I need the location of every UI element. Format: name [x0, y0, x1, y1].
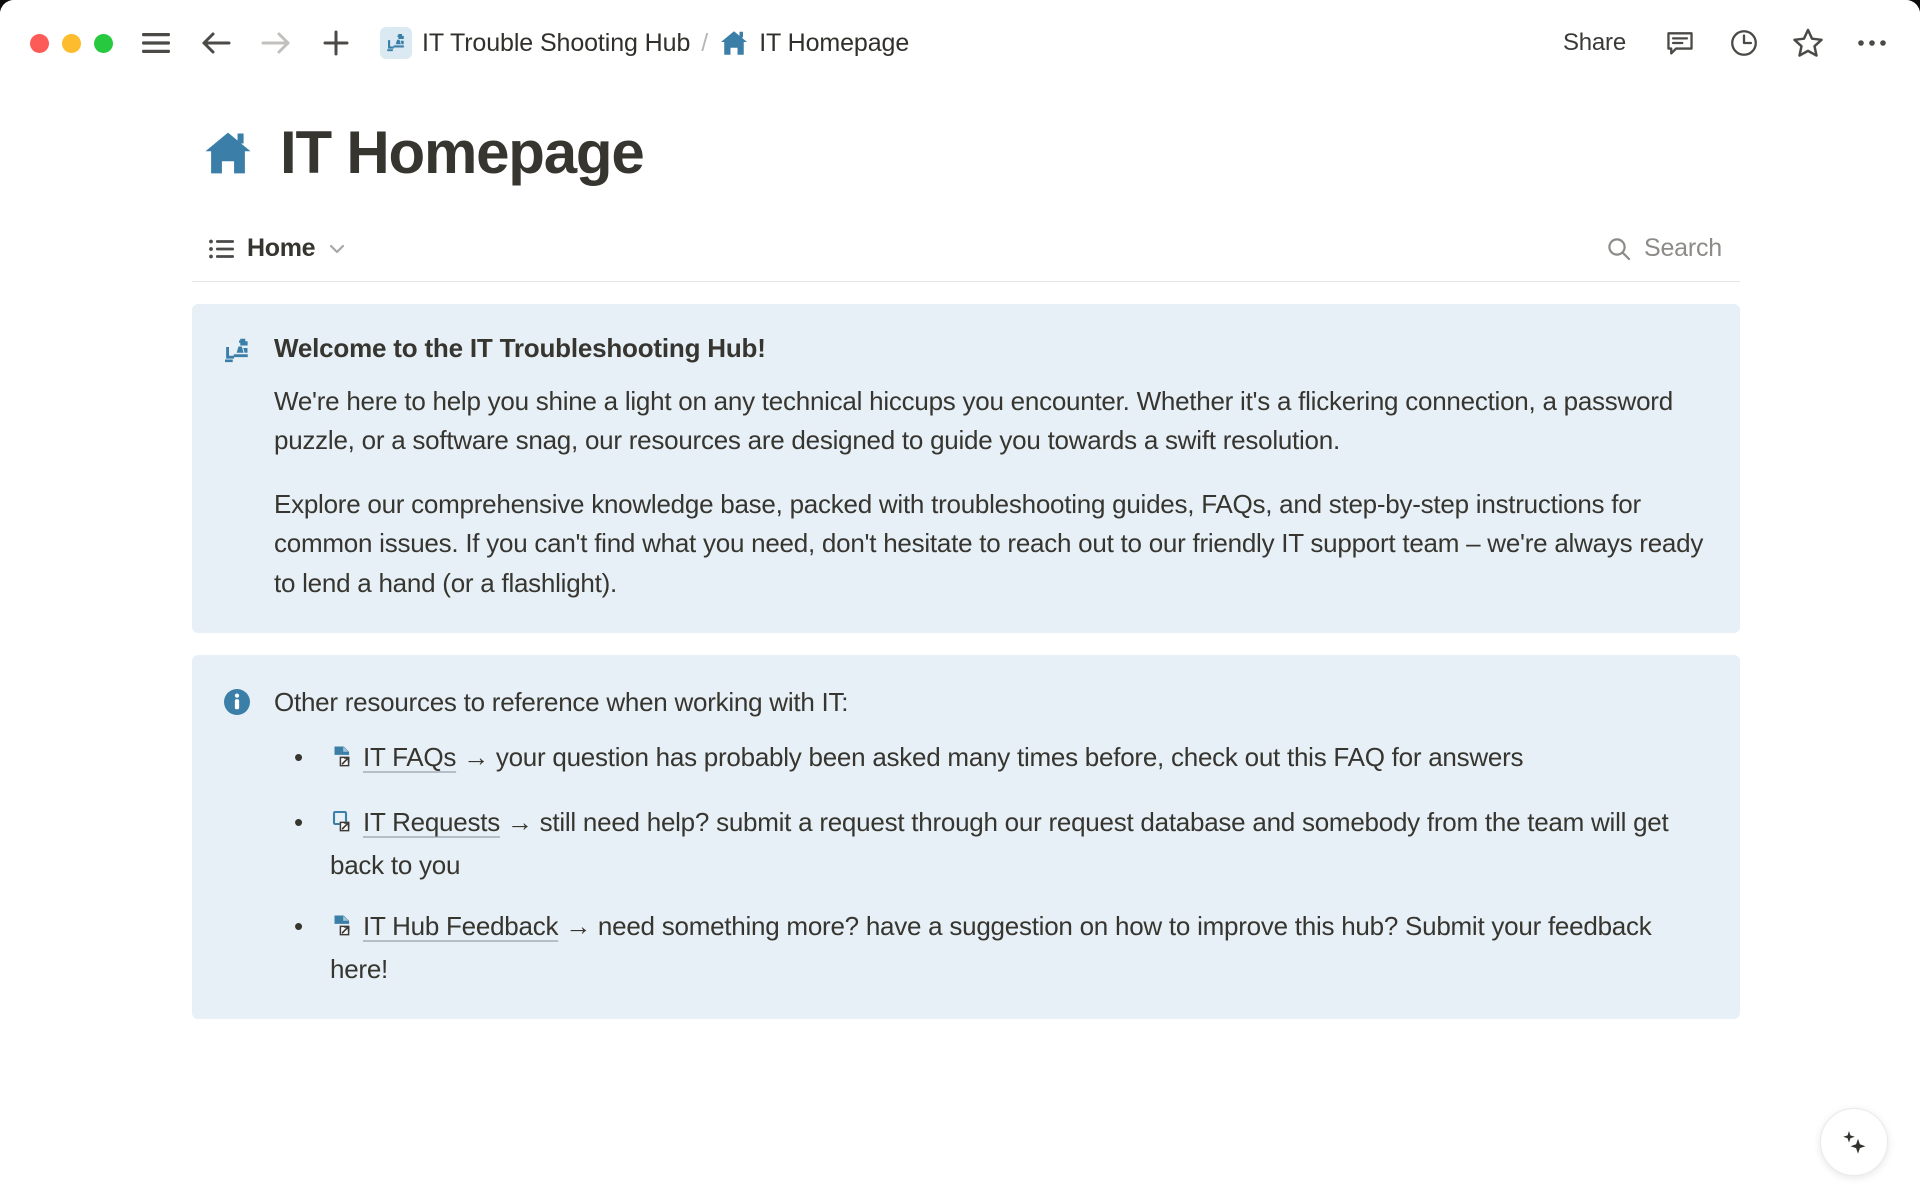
- more-options-icon[interactable]: [1852, 23, 1892, 63]
- star-favorite-icon[interactable]: [1788, 23, 1828, 63]
- welcome-paragraph-1: We're here to help you shine a light on …: [274, 382, 1706, 461]
- app-window: IT Trouble Shooting Hub / IT Homepage Sh…: [0, 0, 1920, 1200]
- ai-assistant-button[interactable]: [1820, 1108, 1888, 1176]
- database-link-icon: [330, 807, 356, 846]
- resources-list: • IT FAQs → your questi: [274, 738, 1706, 989]
- resources-callout: Other resources to reference when workin…: [192, 655, 1740, 1019]
- share-button[interactable]: Share: [1553, 24, 1636, 62]
- list-item-description: → still need help? submit a request thro…: [330, 807, 1669, 880]
- breadcrumb-item-current[interactable]: IT Homepage: [714, 25, 914, 61]
- welcome-callout-body: Welcome to the IT Troubleshooting Hub! W…: [274, 330, 1706, 603]
- house-icon[interactable]: [202, 127, 254, 179]
- forward-arrow-icon[interactable]: [257, 24, 295, 62]
- link-it-faqs[interactable]: IT FAQs: [363, 742, 456, 772]
- chevron-down-icon[interactable]: [326, 238, 348, 260]
- page-link-icon: [330, 742, 356, 781]
- close-window-button[interactable]: [30, 34, 49, 53]
- info-circle-icon: [222, 681, 252, 989]
- comment-icon[interactable]: [1660, 23, 1700, 63]
- history-clock-icon[interactable]: [1724, 23, 1764, 63]
- bullet-icon: •: [294, 803, 303, 842]
- link-it-requests[interactable]: IT Requests: [363, 807, 500, 837]
- list-item: • IT Requests → still need help? submit …: [274, 803, 1706, 885]
- bullet-icon: •: [294, 738, 303, 777]
- search-icon: [1606, 236, 1632, 262]
- page-title-row: IT Homepage: [192, 120, 1740, 186]
- house-icon: [719, 28, 749, 58]
- resources-lead-text: Other resources to reference when workin…: [274, 681, 1706, 722]
- breadcrumb-separator: /: [695, 29, 714, 58]
- search-label: Search: [1644, 234, 1722, 263]
- sparkles-ai-icon: [1837, 1125, 1871, 1159]
- plus-icon[interactable]: [317, 24, 355, 62]
- bullet-icon: •: [294, 907, 303, 946]
- breadcrumb-item-parent[interactable]: IT Trouble Shooting Hub: [375, 24, 695, 62]
- list-item: • IT FAQs → your questi: [274, 738, 1706, 781]
- breadcrumb-current-label: IT Homepage: [759, 29, 909, 58]
- maximize-window-button[interactable]: [94, 34, 113, 53]
- page-body: IT Homepage Home: [0, 120, 1920, 1019]
- search-button[interactable]: Search: [1598, 232, 1730, 265]
- minimize-window-button[interactable]: [62, 34, 81, 53]
- resources-callout-body: Other resources to reference when workin…: [274, 681, 1706, 989]
- list-item-description: → your question has probably been asked …: [456, 742, 1523, 772]
- breadcrumb: IT Trouble Shooting Hub / IT Homepage: [375, 24, 914, 62]
- titlebar-actions: Share: [1553, 23, 1892, 63]
- welcome-paragraph-2: Explore our comprehensive knowledge base…: [274, 485, 1706, 604]
- welcome-callout: Welcome to the IT Troubleshooting Hub! W…: [192, 304, 1740, 633]
- page-title[interactable]: IT Homepage: [280, 120, 644, 186]
- desk-workstation-icon: [222, 330, 252, 603]
- content-column: IT Homepage Home: [180, 120, 1740, 1019]
- navigation-controls: [137, 24, 355, 62]
- link-it-hub-feedback[interactable]: IT Hub Feedback: [363, 911, 558, 941]
- hamburger-menu-icon[interactable]: [137, 24, 175, 62]
- page-link-icon: [330, 911, 356, 950]
- window-controls: [30, 34, 113, 53]
- desk-workstation-icon: [380, 27, 412, 59]
- view-toolbar: Home Search: [192, 230, 1740, 282]
- view-tab-label: Home: [247, 234, 315, 263]
- title-bar: IT Trouble Shooting Hub / IT Homepage Sh…: [0, 0, 1920, 86]
- welcome-callout-title: Welcome to the IT Troubleshooting Hub!: [274, 330, 1706, 368]
- view-tab-home[interactable]: Home: [202, 232, 354, 265]
- back-arrow-icon[interactable]: [197, 24, 235, 62]
- list-item: • IT Hub Feedback → ne: [274, 907, 1706, 989]
- breadcrumb-parent-label: IT Trouble Shooting Hub: [422, 29, 690, 58]
- list-view-icon: [208, 237, 236, 261]
